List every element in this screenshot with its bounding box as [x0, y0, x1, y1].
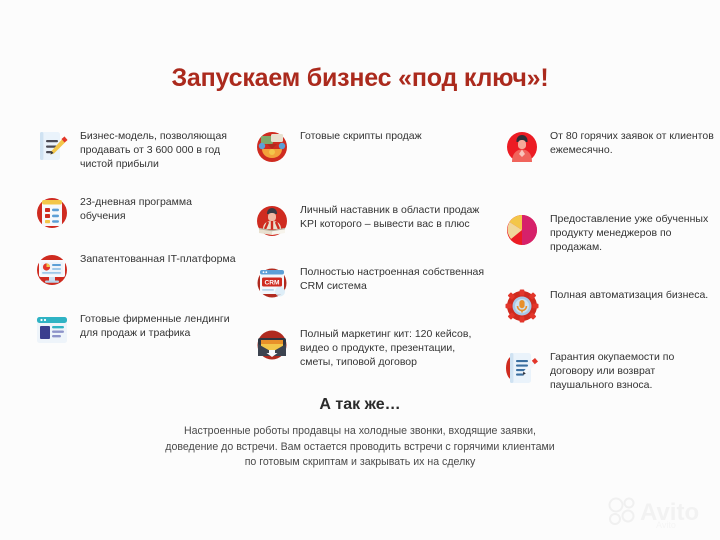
- feature-item: Предоставление уже обученных продукту ме…: [503, 211, 720, 255]
- feature-item: CRM Полностью настроенная собственная CR…: [253, 264, 488, 302]
- also-section-title: А так же…: [0, 396, 720, 414]
- svg-text:Avito: Avito: [656, 520, 676, 530]
- feature-item: Запатентованная IT-платформа: [33, 251, 238, 289]
- feature-label: Личный наставник в области продаж KPI ко…: [300, 202, 488, 231]
- page-title: Запускаем бизнес «под ключ»!: [0, 64, 720, 93]
- also-section-body: Настроенные роботы продавцы на холодные …: [160, 424, 560, 471]
- feature-label: Полный маркетинг кит: 120 кейсов, видео …: [300, 326, 488, 370]
- column-left: Бизнес-модель, позволяющая продавать от …: [0, 128, 238, 371]
- feature-label: Полностью настроенная собственная CRM си…: [300, 264, 488, 293]
- feature-label: Запатентованная IT-платформа: [80, 251, 236, 266]
- sales-scripts-icon: [253, 128, 291, 166]
- feature-item: Гарантия окупаемости по договору или воз…: [503, 349, 720, 393]
- feature-label: Полная автоматизация бизнеса.: [550, 287, 708, 302]
- marketing-kit-briefcase-icon: [253, 326, 291, 364]
- landing-page-icon: [33, 311, 71, 349]
- feature-item: Личный наставник в области продаж KPI ко…: [253, 202, 488, 240]
- features-grid: Бизнес-модель, позволяющая продавать от …: [0, 128, 720, 416]
- promo-page: Запускаем бизнес «под ключ»!: [0, 0, 720, 540]
- pie-chart-icon: [503, 211, 541, 249]
- feature-label: 23-дневная программа обучения: [80, 194, 238, 223]
- feature-item: Готовые скрипты продаж: [253, 128, 488, 166]
- desktop-monitor-icon: [33, 251, 71, 289]
- calendar-checklist-icon: [33, 194, 71, 232]
- contract-pen-icon: [503, 349, 541, 387]
- feature-label: Гарантия окупаемости по договору или воз…: [550, 349, 720, 393]
- document-pencil-icon: [33, 128, 71, 166]
- feature-item: Бизнес-модель, позволяющая продавать от …: [33, 128, 238, 172]
- feature-label: Готовые скрипты продаж: [300, 128, 422, 143]
- feature-item: 23-дневная программа обучения: [33, 194, 238, 232]
- feature-label: От 80 горячих заявок от клиентов ежемеся…: [550, 128, 720, 157]
- feature-item: Полная автоматизация бизнеса.: [503, 287, 720, 325]
- mentor-book-icon: [253, 202, 291, 240]
- feature-item: От 80 горячих заявок от клиентов ежемеся…: [503, 128, 720, 166]
- gear-automation-icon: [503, 287, 541, 325]
- crm-window-icon: CRM: [253, 264, 291, 302]
- feature-label: Предоставление уже обученных продукту ме…: [550, 211, 720, 255]
- column-right: От 80 горячих заявок от клиентов ежемеся…: [488, 128, 720, 416]
- svg-text:CRM: CRM: [264, 279, 280, 286]
- column-middle: Готовые скрипты продаж Личный нас: [238, 128, 488, 394]
- feature-label: Бизнес-модель, позволяющая продавать от …: [80, 128, 238, 172]
- feature-label: Готовые фирменные лендинги для продаж и …: [80, 311, 238, 340]
- client-avatar-icon: [503, 128, 541, 166]
- avito-watermark: Avito Avito: [604, 492, 710, 532]
- feature-item: Полный маркетинг кит: 120 кейсов, видео …: [253, 326, 488, 370]
- feature-item: Готовые фирменные лендинги для продаж и …: [33, 311, 238, 349]
